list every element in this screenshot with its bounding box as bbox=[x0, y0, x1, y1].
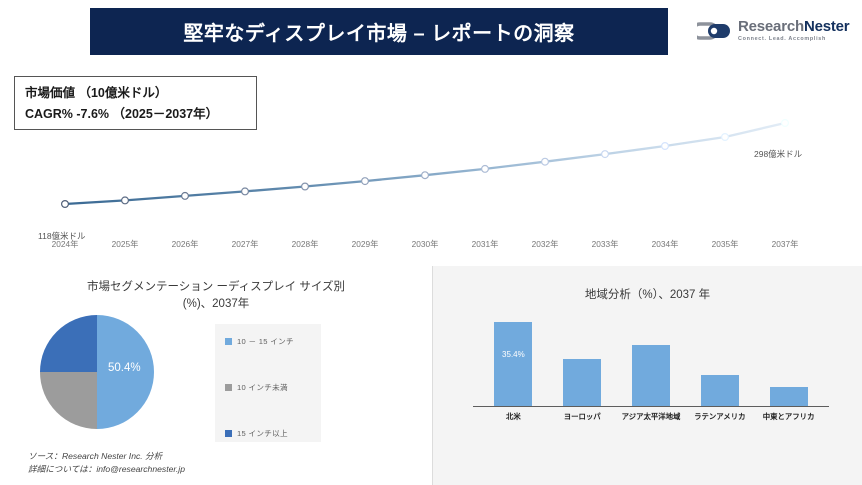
segmentation-panel: 市場セグメンテーション ーディスプレイ サイズ別 (%)、2037年 50.4%… bbox=[0, 266, 432, 485]
line-data-point bbox=[242, 188, 249, 195]
year-axis-tick: 2028年 bbox=[292, 238, 319, 250]
year-axis-tick: 2035年 bbox=[712, 238, 739, 250]
year-axis-tick: 2034年 bbox=[652, 238, 679, 250]
callout-line-1: 市場価値 （10億米ドル） bbox=[25, 83, 248, 104]
line-data-point bbox=[482, 166, 489, 173]
line-data-point bbox=[602, 151, 609, 158]
bar-rect bbox=[563, 359, 601, 407]
brand-text: ResearchNester Connect. Lead. Accomplish bbox=[738, 19, 849, 42]
report-infographic: 堅牢なディスプレイ市場 – レポートの洞察 ResearchNester Con… bbox=[0, 0, 862, 485]
legend-swatch-icon bbox=[225, 338, 232, 345]
year-axis-tick: 2026年 bbox=[172, 238, 199, 250]
pie-slice-value-label: 50.4% bbox=[108, 362, 141, 374]
header-banner: 堅牢なディスプレイ市場 – レポートの洞察 bbox=[90, 8, 668, 55]
legend-item: 10 － 15 インチ bbox=[225, 336, 321, 347]
year-axis-tick: 2033年 bbox=[592, 238, 619, 250]
brand-name-part2: Nester bbox=[804, 18, 850, 35]
bottom-section: 市場セグメンテーション ーディスプレイ サイズ別 (%)、2037年 50.4%… bbox=[0, 266, 862, 485]
page-title: 堅牢なディスプレイ市場 – レポートの洞察 bbox=[183, 17, 574, 46]
market-value-callout: 市場価値 （10億米ドル） CAGR% -7.6% （2025－2037年） bbox=[14, 76, 257, 130]
bar-category-label: ラテンアメリカ bbox=[694, 411, 745, 422]
bar-rect bbox=[701, 375, 739, 406]
bar-category-label: ヨーロッパ bbox=[564, 411, 601, 422]
regional-title: 地域分析（%）、2037 年 bbox=[433, 266, 862, 304]
year-axis-tick: 2029年 bbox=[352, 238, 379, 250]
year-axis-tick: 2024年 bbox=[52, 238, 79, 250]
brand-name-part1: Research bbox=[738, 18, 804, 35]
line-data-point bbox=[782, 120, 789, 127]
bar-rect bbox=[770, 387, 808, 406]
year-axis-tick: 2030年 bbox=[412, 238, 439, 250]
year-axis-tick: 2025年 bbox=[112, 238, 139, 250]
line-data-point bbox=[182, 193, 189, 200]
regional-bar-chart: 35.4% 北米ヨーロッパアジア太平洋地域ラテンアメリカ中東とアフリカ bbox=[447, 311, 847, 426]
line-data-point bbox=[722, 134, 729, 141]
line-data-point bbox=[122, 197, 129, 204]
bar-baseline-axis bbox=[473, 406, 829, 407]
line-data-point bbox=[62, 201, 69, 208]
brand-logo: ResearchNester Connect. Lead. Accomplish bbox=[697, 14, 853, 48]
end-value-label: 298億米ドル bbox=[754, 148, 802, 160]
segmentation-title: 市場セグメンテーション ーディスプレイ サイズ別 (%)、2037年 bbox=[0, 266, 432, 313]
brand-name: ResearchNester bbox=[738, 19, 849, 34]
year-axis-tick: 2031年 bbox=[472, 238, 499, 250]
bar-category-label: 北米 bbox=[506, 411, 521, 422]
line-data-point bbox=[662, 143, 669, 150]
legend-label: 10 インチ未満 bbox=[237, 382, 288, 393]
source-line: ソース：Research Nester Inc. 分析 bbox=[28, 450, 185, 463]
line-data-point bbox=[422, 172, 429, 179]
line-data-point bbox=[542, 158, 549, 165]
regional-panel: 地域分析（%）、2037 年 35.4% 北米ヨーロッパアジア太平洋地域ラテンア… bbox=[432, 266, 862, 485]
bar-category-labels: 北米ヨーロッパアジア太平洋地域ラテンアメリカ中東とアフリカ bbox=[479, 411, 823, 427]
legend-swatch-icon bbox=[225, 430, 232, 437]
bar-rect: 35.4% bbox=[494, 322, 532, 406]
bar-category-label: アジア太平洋地域 bbox=[622, 411, 681, 422]
line-data-point bbox=[362, 178, 369, 185]
line-data-point bbox=[302, 183, 309, 190]
legend-label: 10 － 15 インチ bbox=[237, 336, 294, 347]
pie-legend: 10 － 15 インチ10 インチ未満15 インチ以上 bbox=[215, 324, 321, 442]
legend-item: 10 インチ未満 bbox=[225, 382, 321, 393]
legend-item: 15 インチ以上 bbox=[225, 428, 321, 439]
callout-line-2: CAGR% -7.6% （2025－2037年） bbox=[25, 104, 248, 125]
source-footer: ソース：Research Nester Inc. 分析 詳細については：info… bbox=[28, 450, 185, 476]
year-axis-labels: 2024年2025年2026年2027年2028年2029年2030年2031年… bbox=[0, 238, 862, 256]
bar-plot-area: 35.4% bbox=[479, 311, 823, 406]
year-axis-tick: 2037年 bbox=[772, 238, 799, 250]
segmentation-pie-chart: 50.4% bbox=[38, 313, 156, 431]
bar-value-label: 35.4% bbox=[494, 350, 532, 359]
bar-category-label: 中東とアフリカ bbox=[763, 411, 815, 422]
bar-rect bbox=[632, 345, 670, 406]
contact-line: 詳細については：info@researchnester.jp bbox=[28, 463, 185, 476]
year-axis-tick: 2027年 bbox=[232, 238, 259, 250]
year-axis-tick: 2032年 bbox=[532, 238, 559, 250]
brand-tagline: Connect. Lead. Accomplish bbox=[738, 37, 849, 42]
legend-label: 15 インチ以上 bbox=[237, 428, 288, 439]
chain-link-logo-icon bbox=[697, 19, 731, 43]
legend-swatch-icon bbox=[225, 384, 232, 391]
